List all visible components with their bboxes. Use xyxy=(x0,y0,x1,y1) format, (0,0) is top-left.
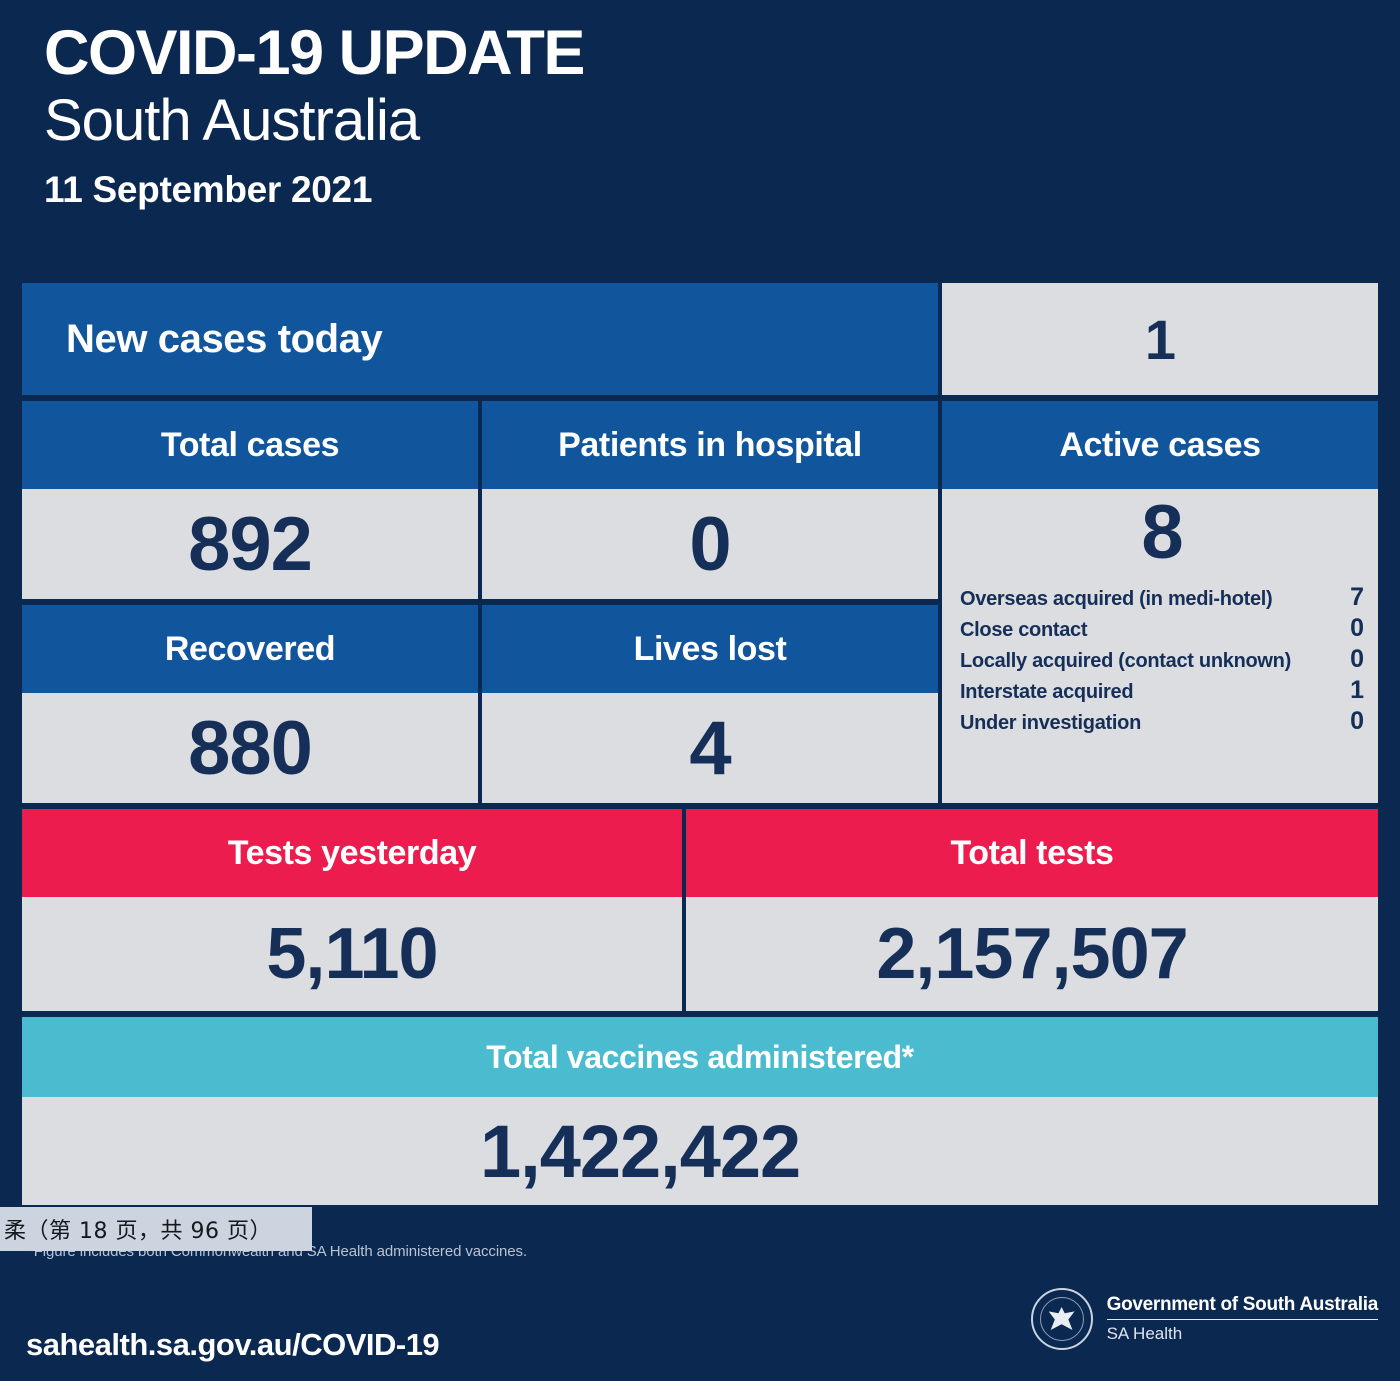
tile-patients-in-hospital: Patients in hospital 0 xyxy=(482,401,938,599)
page-header: COVID-19 UPDATE South Australia 11 Septe… xyxy=(0,0,1400,211)
government-name: Government of South Australia xyxy=(1107,1294,1378,1320)
breakdown-row: Under investigation 0 xyxy=(960,707,1364,736)
vaccines-label: Total vaccines administered* xyxy=(22,1017,1378,1097)
breakdown-label: Under investigation xyxy=(960,712,1141,735)
breakdown-value: 7 xyxy=(1350,583,1364,612)
tile-total-tests: Total tests 2,157,507 xyxy=(686,809,1378,1011)
tests-row: Tests yesterday 5,110 Total tests 2,157,… xyxy=(22,809,1378,1011)
tile-total-cases: Total cases 892 xyxy=(22,401,478,599)
breakdown-value: 0 xyxy=(1350,645,1364,674)
new-cases-label: New cases today xyxy=(22,283,938,395)
tile-value: 880 xyxy=(22,693,478,803)
tile-tests-yesterday: Tests yesterday 5,110 xyxy=(22,809,682,1011)
tile-value: 0 xyxy=(482,489,938,599)
breakdown-label: Close contact xyxy=(960,619,1087,642)
vaccines-value: 1,422,422 xyxy=(22,1097,1378,1205)
breakdown-value: 1 xyxy=(1350,676,1364,705)
active-cases-panel: Active cases 8 Overseas acquired (in med… xyxy=(942,401,1378,803)
south-australia-crest-icon xyxy=(1031,1288,1093,1350)
footer-website-url[interactable]: sahealth.sa.gov.au/COVID-19 xyxy=(26,1327,439,1363)
tests-value: 5,110 xyxy=(22,897,682,1011)
tile-label: Lives lost xyxy=(482,605,938,693)
tile-row-2: Recovered 880 Lives lost 4 xyxy=(22,605,938,803)
tile-value: 892 xyxy=(22,489,478,599)
breakdown-row: Close contact 0 xyxy=(960,614,1364,643)
new-cases-row: New cases today 1 xyxy=(22,283,1378,395)
page-indicator-overlay: 柔（第 18 页，共 96 页） xyxy=(0,1207,312,1251)
tests-label: Tests yesterday xyxy=(22,809,682,897)
tile-label: Total cases xyxy=(22,401,478,489)
breakdown-row: Overseas acquired (in medi-hotel) 7 xyxy=(960,583,1364,612)
sa-health-logo: Government of South Australia SA Health xyxy=(1031,1288,1378,1350)
tile-row-1: Total cases 892 Patients in hospital 0 xyxy=(22,401,938,599)
tile-lives-lost: Lives lost 4 xyxy=(482,605,938,803)
mid-block: Total cases 892 Patients in hospital 0 R… xyxy=(22,401,1378,803)
tiles-grid: Total cases 892 Patients in hospital 0 R… xyxy=(22,401,938,803)
piping-shrike-icon xyxy=(1049,1307,1075,1331)
page-title: COVID-19 UPDATE xyxy=(44,18,1400,89)
tests-value: 2,157,507 xyxy=(686,897,1378,1011)
tile-label: Patients in hospital xyxy=(482,401,938,489)
active-cases-breakdown: Overseas acquired (in medi-hotel) 7 Clos… xyxy=(960,583,1364,736)
report-date: 11 September 2021 xyxy=(44,169,1400,211)
new-cases-value: 1 xyxy=(942,283,1378,395)
breakdown-label: Overseas acquired (in medi-hotel) xyxy=(960,588,1272,611)
vaccines-panel: Total vaccines administered* 1,422,422 xyxy=(22,1017,1378,1205)
breakdown-value: 0 xyxy=(1350,614,1364,643)
breakdown-row: Interstate acquired 1 xyxy=(960,676,1364,705)
crest-inner-ring xyxy=(1040,1297,1084,1341)
department-name: SA Health xyxy=(1107,1320,1378,1344)
breakdown-label: Interstate acquired xyxy=(960,681,1133,704)
page-subtitle: South Australia xyxy=(44,87,1400,155)
tile-value: 4 xyxy=(482,693,938,803)
breakdown-value: 0 xyxy=(1350,707,1364,736)
government-wordmark: Government of South Australia SA Health xyxy=(1107,1294,1378,1344)
tests-label: Total tests xyxy=(686,809,1378,897)
tile-label: Recovered xyxy=(22,605,478,693)
breakdown-label: Locally acquired (contact unknown) xyxy=(960,650,1291,673)
active-cases-label: Active cases xyxy=(942,401,1378,489)
active-cases-body: 8 Overseas acquired (in medi-hotel) 7 Cl… xyxy=(942,489,1378,803)
tile-recovered: Recovered 880 xyxy=(22,605,478,803)
breakdown-row: Locally acquired (contact unknown) 0 xyxy=(960,645,1364,674)
stats-board: New cases today 1 Total cases 892 Patien… xyxy=(22,283,1378,1205)
active-cases-value: 8 xyxy=(960,489,1364,573)
